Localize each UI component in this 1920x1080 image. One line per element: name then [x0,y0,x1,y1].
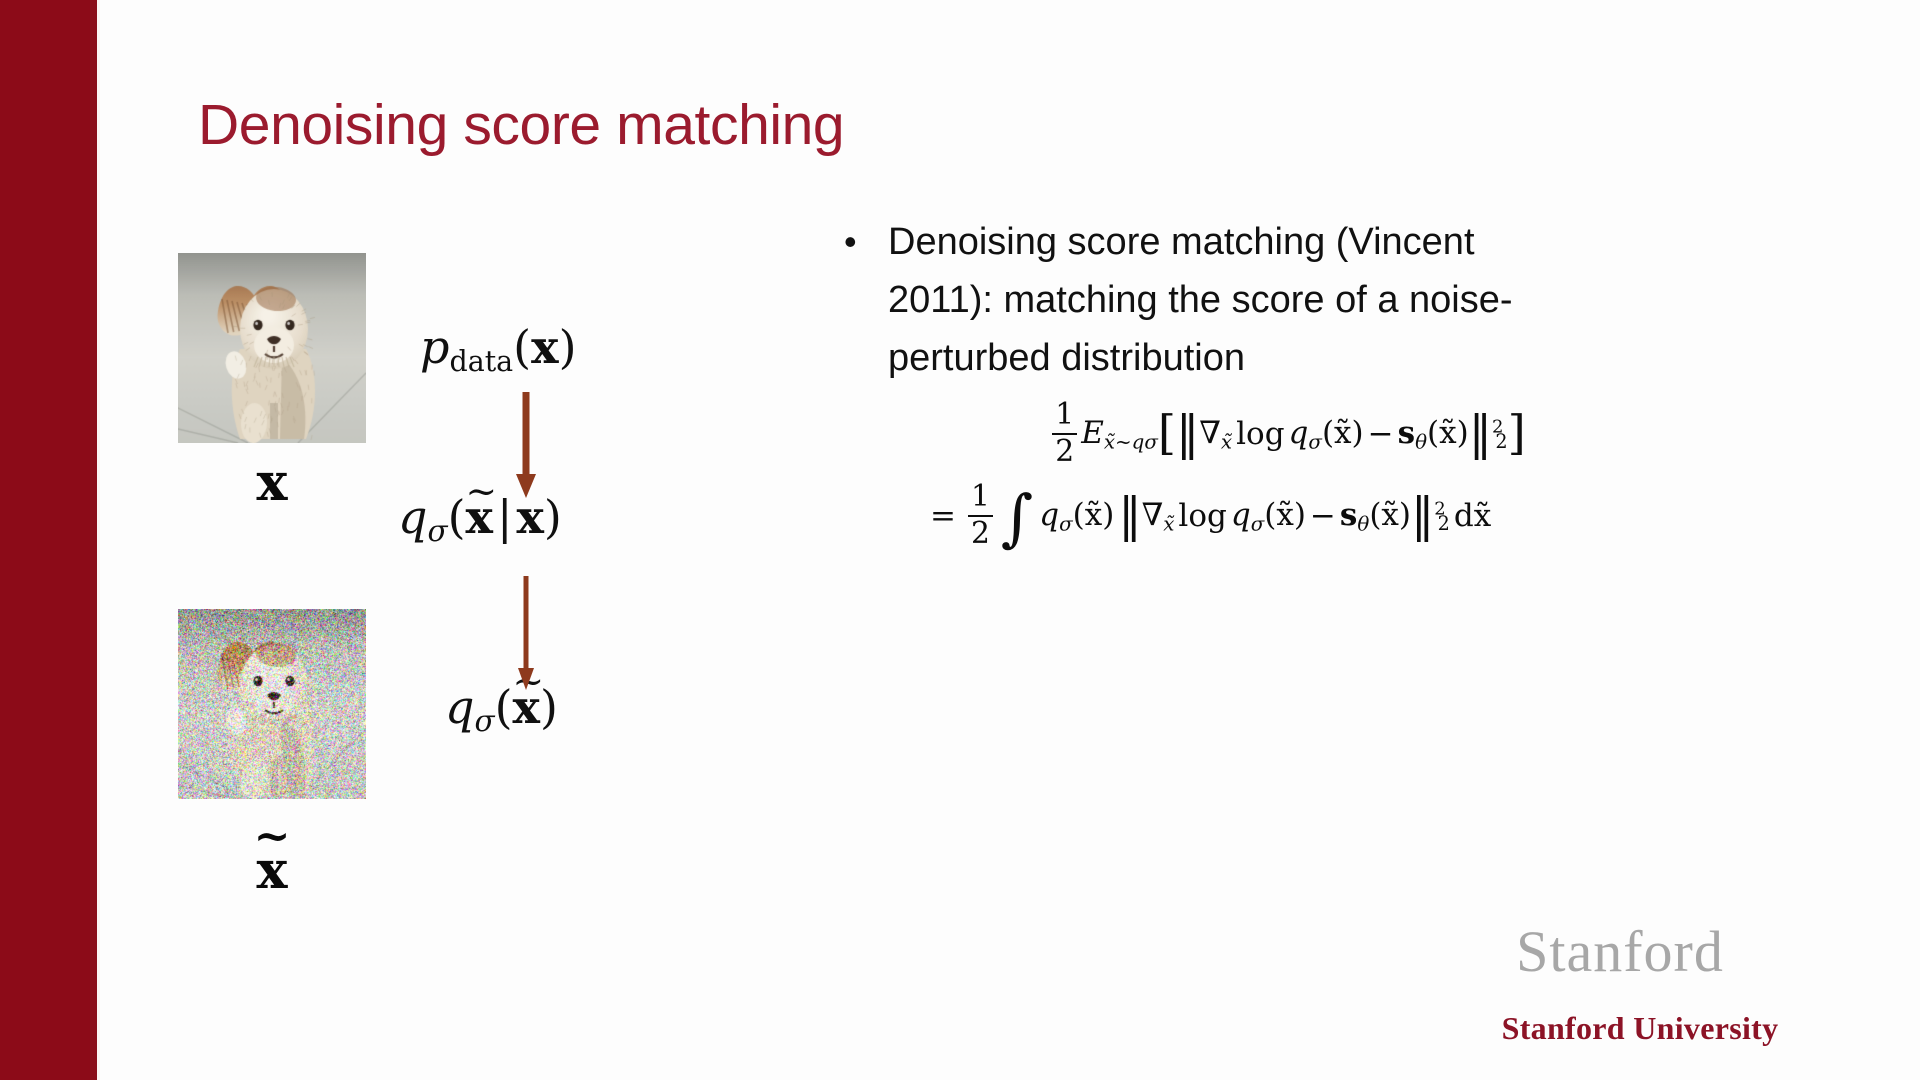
bullet-text: Denoising score matching (Vincent 2011):… [888,213,1578,387]
integral-icon: ∫ [1001,499,1033,537]
paren-open: ( [495,680,513,734]
paren-close: ) [559,320,577,374]
bullet-list: • Denoising score matching (Vincent 2011… [838,213,1578,387]
nabla-icon: ∇ [1199,415,1221,451]
equals-operator: = [930,498,956,534]
q-symbol: q [1289,415,1309,451]
p-subscript-data: data [449,345,513,378]
q-subscript: σ [1308,430,1322,453]
equation-q-marginal: qσ(~x) [445,680,558,738]
bracket-close: ] [1508,415,1526,452]
log-operator: log [1178,498,1226,534]
q-sigma-term: qσ(x̃) [1231,497,1306,536]
fraction-denominator: 2 [1052,437,1077,468]
fraction-denominator: 2 [968,519,993,550]
left-accent-bar [0,0,97,1080]
stanford-wordmark: Stanford [1470,918,1770,985]
p-symbol: p [420,320,449,374]
noisy-sample-symbol: x [256,840,287,901]
stanford-university-label: Stanford University [1470,1010,1810,1047]
q-argument: (x̃) [1322,415,1364,451]
clean-dog-canvas [178,253,366,443]
fraction-numerator: 1 [1052,400,1077,431]
norm-subscript: 2 [1495,430,1507,453]
gradient-term: ∇x̃ [1142,497,1175,536]
bracket-open: [ [1158,415,1176,452]
left-accent-bar-edge [97,0,100,1080]
tilde-accent: ~ [466,473,493,511]
q-argument: (x̃) [1073,497,1115,533]
norm-open: ‖ [1176,415,1199,452]
noisy-sample-label: ~ x [210,828,334,895]
x-argument: x [531,320,558,374]
clean-sample-symbol: x [256,452,287,513]
score-network-term: sθ(x̃) [1398,415,1469,454]
nabla-subscript: x̃ [1163,512,1174,535]
noisy-dog-image [178,609,366,799]
arrow-down-icon-top [512,392,540,502]
equation-line-2: = 1 2 ∫ qσ(x̃) ‖ ∇x̃ log qσ(x̃) − sθ(x̃)… [930,482,1610,550]
arrow-down-icon-bottom [512,576,540,694]
noisy-dog-canvas [178,609,366,799]
fraction-numerator: 1 [968,482,993,513]
q-subscript: σ [1251,512,1265,535]
differential-term: dx̃ [1454,498,1491,534]
q-argument: (x̃) [1264,497,1306,533]
s-subscript-theta: θ [1415,430,1427,453]
q-subscript: σ [1059,512,1073,535]
nabla-subscript: x̃ [1221,430,1232,453]
E-subscript: x̃~qσ [1104,430,1158,453]
q-symbol: q [1039,497,1059,533]
q-subscript-sigma: σ [474,704,494,738]
page-title: Denoising score matching [198,92,844,158]
log-operator: log [1236,416,1284,452]
q-subscript-sigma: σ [427,514,447,548]
paren-open: ( [513,320,531,374]
q-symbol: q [1231,497,1251,533]
one-half-fraction: 1 2 [1052,400,1077,468]
slide-canvas: Denoising score matching x ~ x pdata(x) … [0,0,1920,1080]
q-sigma-density-term: qσ(x̃) [1039,497,1114,536]
s-argument: (x̃) [1427,415,1469,451]
minus-operator: − [1310,498,1336,534]
clean-dog-image [178,253,366,443]
main-equation: 1 2 Ex̃~qσ [ ‖ ∇x̃ log qσ(x̃) − sθ(x̃) ‖… [930,400,1610,550]
norm-close: ‖ [1411,497,1434,534]
norm-subscript: 2 [1438,512,1450,535]
norm-indices: 22 [1492,415,1508,453]
norm-open: ‖ [1118,497,1141,534]
conditional-bar: | [497,490,513,544]
expectation-term: Ex̃~qσ [1081,415,1158,454]
q-sigma-term: qσ(x̃) [1289,415,1364,454]
s-subscript-theta: θ [1357,512,1369,535]
s-argument: (x̃) [1369,497,1411,533]
q-symbol: q [445,680,474,734]
minus-operator: − [1368,416,1394,452]
one-half-fraction: 1 2 [968,482,993,550]
E-symbol: E [1081,415,1104,451]
bullet-marker-icon: • [838,213,888,271]
gradient-term: ∇x̃ [1199,415,1232,454]
paren-open: ( [448,490,466,544]
clean-sample-label: x [210,452,334,513]
nabla-icon: ∇ [1142,497,1164,533]
paren-close: ) [544,490,562,544]
score-network-term: sθ(x̃) [1340,497,1411,536]
q-symbol: q [398,490,427,544]
s-symbol: s [1398,415,1415,451]
equation-line-1: 1 2 Ex̃~qσ [ ‖ ∇x̃ log qσ(x̃) − sθ(x̃) ‖… [930,400,1610,468]
equation-p-data: pdata(x) [420,320,577,378]
s-symbol: s [1340,497,1357,533]
list-item: • Denoising score matching (Vincent 2011… [838,213,1578,387]
x-tilde-argument: ~x [466,490,493,544]
norm-indices: 22 [1434,497,1450,535]
norm-close: ‖ [1469,415,1492,452]
